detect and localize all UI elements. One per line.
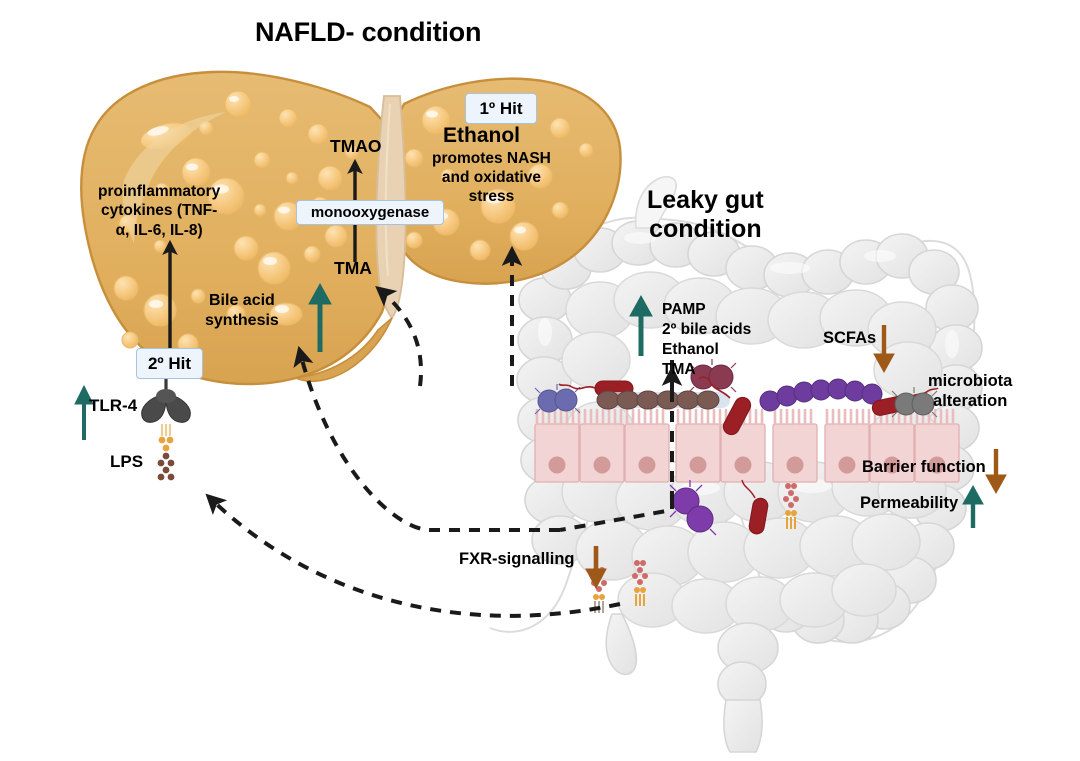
figure-canvas: NAFLD- condition Leaky gutcondition proi…	[0, 0, 1080, 761]
diagram-artwork	[0, 0, 1080, 761]
arrow-down-barrier	[986, 449, 1006, 493]
label-barrier-function: Barrier function	[862, 458, 986, 476]
title-leaky-gut: Leaky gutcondition	[647, 186, 764, 244]
label-lps: LPS	[110, 452, 143, 471]
tlr4-receptor-and-lps	[142, 378, 191, 480]
bacteria-brown-chain	[597, 391, 730, 409]
lps-molecule-liver	[158, 424, 175, 480]
label-tmao: TMAO	[330, 137, 382, 157]
label-bile-acid-synthesis: Bile acid synthesis	[205, 291, 279, 330]
label-microbiota-alteration: microbiota alteration	[928, 371, 1012, 411]
callout-monooxygenase: monooxygenase	[296, 200, 444, 225]
label-fxr-signalling: FXR-signalling	[459, 550, 575, 568]
label-pamp-block: PAMP 2º bile acids Ethanol TMA	[662, 300, 751, 381]
label-scfas: SCFAs	[823, 329, 876, 347]
label-ethanol-description: promotes NASH and oxidative stress	[432, 150, 551, 207]
label-proinflammatory-cytokines: proinflammatory cytokines (TNF- α, IL-6,…	[98, 182, 220, 240]
label-tma: TMA	[334, 259, 372, 279]
bacteria-purple-chain	[760, 379, 882, 411]
callout-secondary-hit: 2º Hit	[136, 348, 203, 379]
label-permeability: Permeability	[860, 494, 958, 512]
title-leaky-gut-line2: condition	[649, 215, 761, 243]
tlr4-receptor	[142, 378, 191, 422]
label-ethanol: Ethanol	[443, 124, 520, 148]
label-tlr4: TLR-4	[89, 396, 137, 415]
callout-primary-hit: 1º Hit	[465, 93, 537, 124]
title-leaky-gut-line1: Leaky gut	[647, 186, 764, 214]
title-nafld: NAFLD- condition	[255, 17, 481, 47]
